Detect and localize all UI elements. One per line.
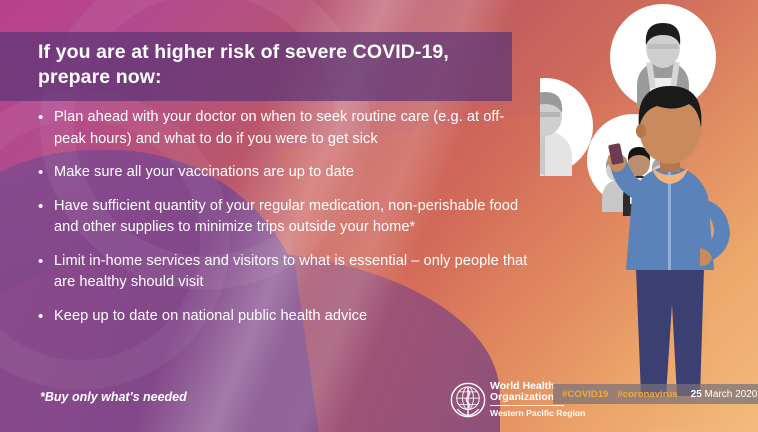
who-region: Western Pacific Region [490,408,585,419]
infographic-slide: If you are at higher risk of severe COVI… [0,0,758,432]
bullet-marker-icon: • [38,251,54,273]
bullet-list: • Plan ahead with your doctor on when to… [38,107,528,339]
list-item: • Keep up to date on national public hea… [38,306,528,328]
list-item-text: Plan ahead with your doctor on when to s… [54,107,528,150]
list-item: • Make sure all your vaccinations are up… [38,162,528,184]
bullet-marker-icon: • [38,162,54,184]
date-day: 25 [691,389,702,400]
list-item: • Have sufficient quantity of your regul… [38,196,528,239]
list-item: • Limit in-home services and visitors to… [38,251,528,294]
bullet-marker-icon: • [38,196,54,218]
list-item-text: Have sufficient quantity of your regular… [54,196,528,239]
who-emblem-icon [450,382,486,418]
hashtag-coronavirus: #coronavirus [617,389,677,400]
page-title: If you are at higher risk of severe COVI… [38,40,498,90]
publication-date: 25 March 2020 [691,389,758,400]
bullet-marker-icon: • [38,306,54,328]
date-month-year: March 2020 [702,389,758,400]
list-item: • Plan ahead with your doctor on when to… [38,107,528,150]
hashtag-bar: #COVID19 #coronavirus 25 March 2020 [553,384,758,404]
hashtag-covid19: #COVID19 [562,389,608,400]
footnote: *Buy only what's needed [40,390,187,404]
list-item-text: Keep up to date on national public healt… [54,306,528,328]
illustration-person-with-thought-bubbles [540,0,758,432]
list-item-text: Limit in-home services and visitors to w… [54,251,528,294]
list-item-text: Make sure all your vaccinations are up t… [54,162,528,184]
who-divider [490,405,564,406]
bullet-marker-icon: • [38,107,54,129]
